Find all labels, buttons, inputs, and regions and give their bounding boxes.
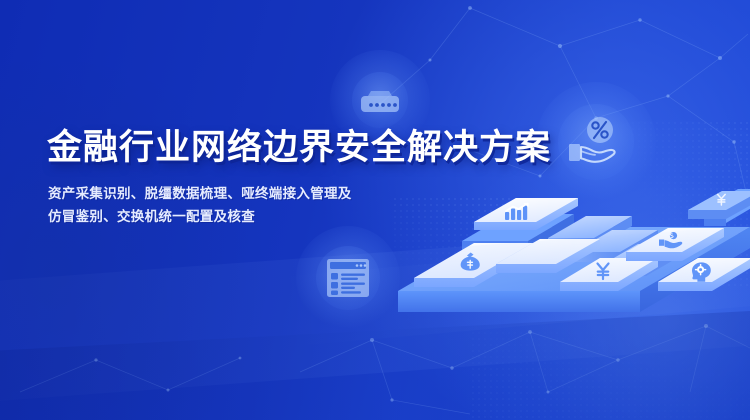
hand-percent-icon-badge (536, 82, 656, 202)
tile-yen-block-rear (688, 191, 750, 219)
network-switch-icon (359, 84, 401, 116)
page-subtitle-line-1: 资产采集识别、脱缰数据梳理、哑终端接入管理及 (48, 182, 378, 205)
page-title: 金融行业网络边界安全解决方案 (47, 124, 551, 172)
page-subtitle: 资产采集识别、脱缰数据梳理、哑终端接入管理及 仿冒鉴别、交换机统一配置及核查 (48, 182, 378, 228)
hand-percent-icon (567, 116, 625, 168)
banner-root: 金融行业网络边界安全解决方案 资产采集识别、脱缰数据梳理、哑终端接入管理及 仿冒… (0, 0, 750, 420)
isometric-platform-illustration (388, 186, 750, 361)
document-checklist-icon (326, 258, 370, 298)
document-checklist-icon-badge (296, 226, 400, 330)
page-subtitle-line-2: 仿冒鉴别、交换机统一配置及核查 (48, 205, 378, 228)
